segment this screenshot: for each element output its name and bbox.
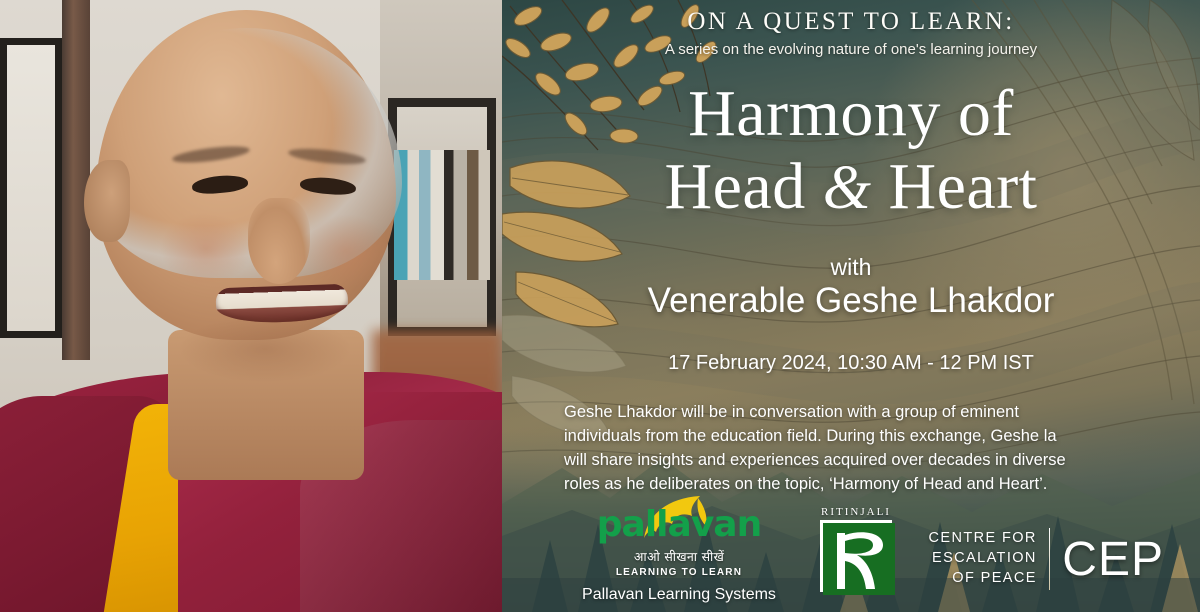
photo-background-doorframe <box>62 0 90 360</box>
cep-name-line-2: ESCALATION <box>929 549 1037 569</box>
event-description-line-1: Geshe Lhakdor will be in conversation wi… <box>564 400 1140 424</box>
ritinjali-monogram-box <box>820 520 892 592</box>
speaker-portrait-photo <box>0 0 502 612</box>
monk-ear <box>84 160 130 242</box>
monk-nose <box>248 198 310 284</box>
event-description-line-3: will share insights and experiences acqu… <box>564 448 1140 472</box>
partner-logos: pallavan आओ सीखना सीखें LEARNING TO LEAR… <box>502 502 1200 606</box>
ritinjali-logo: RITINJALI <box>810 506 902 592</box>
cep-divider <box>1049 528 1051 590</box>
cep-logo: CENTRE FOR ESCALATION OF PEACE CEP <box>929 528 1164 590</box>
event-datetime: 17 February 2024, 10:30 AM - 12 PM IST <box>502 352 1200 375</box>
series-kicker: ON A QUEST TO LEARN: <box>502 8 1200 36</box>
photo-background-frame <box>0 38 62 338</box>
poster-content: ON A QUEST TO LEARN: A series on the evo… <box>502 0 1200 612</box>
event-title-heart: Heart <box>888 150 1037 223</box>
photo-background-books <box>394 150 490 280</box>
ritinjali-name: RITINJALI <box>810 506 902 518</box>
pallavan-wordmark: pallavan <box>584 504 774 545</box>
event-title-line-2: Head & Heart <box>502 155 1200 220</box>
event-poster: ON A QUEST TO LEARN: A series on the evo… <box>0 0 1200 612</box>
pallavan-caption: Pallavan Learning Systems <box>564 586 794 604</box>
pallavan-logo: pallavan आओ सीखना सीखें LEARNING TO LEAR… <box>564 502 794 604</box>
ritinjali-r-monogram-icon <box>823 523 895 595</box>
monk-cheek-left <box>160 212 252 286</box>
cep-name-line-1: CENTRE FOR <box>929 529 1037 549</box>
event-description: Geshe Lhakdor will be in conversation wi… <box>564 400 1140 496</box>
event-title-head: Head <box>664 150 805 223</box>
pallavan-english-tagline: LEARNING TO LEARN <box>564 567 794 578</box>
series-subtitle: A series on the evolving nature of one's… <box>502 41 1200 58</box>
event-description-line-4: roles as he deliberates on the topic, ‘H… <box>564 472 1140 496</box>
monk-chin <box>180 316 350 382</box>
cep-name-line-3: OF PEACE <box>929 569 1037 589</box>
poster-art-panel: ON A QUEST TO LEARN: A series on the evo… <box>502 0 1200 612</box>
pallavan-logo-mark: pallavan <box>584 502 774 552</box>
with-label: with <box>502 254 1200 281</box>
cep-abbreviation: CEP <box>1062 532 1164 587</box>
cep-full-name: CENTRE FOR ESCALATION OF PEACE <box>929 529 1037 588</box>
speaker-name: Venerable Geshe Lhakdor <box>502 281 1200 321</box>
event-title-ampersand: & <box>823 154 872 222</box>
event-title: Harmony of Head & Heart <box>502 82 1200 219</box>
monk-cheek-right <box>300 214 392 288</box>
event-description-line-2: individuals from the education field. Du… <box>564 424 1140 448</box>
event-title-line-1: Harmony of <box>688 77 1014 150</box>
